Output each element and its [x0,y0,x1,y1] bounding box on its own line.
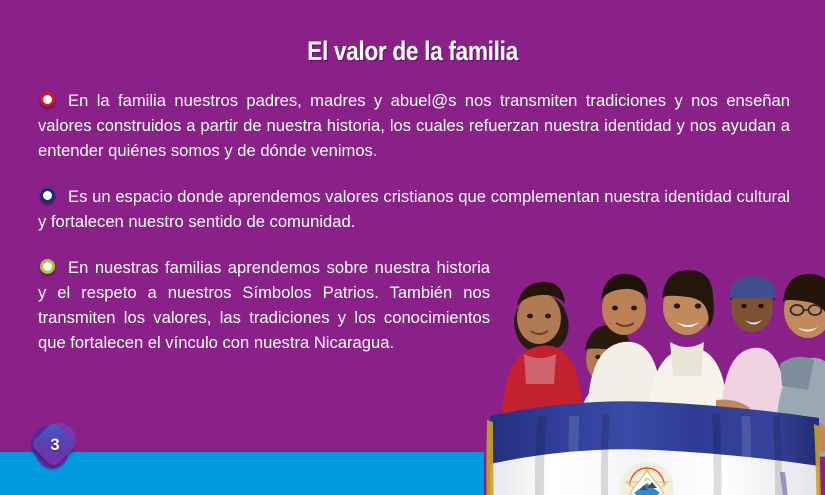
green-dot-icon [40,259,55,274]
bullet-paragraph-2: Es un espacio donde aprendemos valores c… [38,184,790,234]
blue-dot-icon [40,188,55,203]
nicaragua-flag [486,401,823,495]
bullet-text-2: Es un espacio donde aprendemos valores c… [38,187,790,231]
slide-page: El valor de la familia [0,0,825,495]
bullet-text-3: En nuestras familias aprendemos sobre nu… [38,258,490,352]
red-dot-icon [40,92,55,107]
bullet-paragraph-1: En la familia nuestros padres, madres y … [38,88,790,163]
bullet-text-1: En la familia nuestros padres, madres y … [38,91,790,160]
bullet-paragraph-3: En nuestras familias aprendemos sobre nu… [38,255,490,355]
page-number-badge: 3 [28,421,80,473]
content-body: En la familia nuestros padres, madres y … [38,88,790,376]
page-title: El valor de la familia [66,36,759,67]
page-number-label: 3 [28,421,81,469]
